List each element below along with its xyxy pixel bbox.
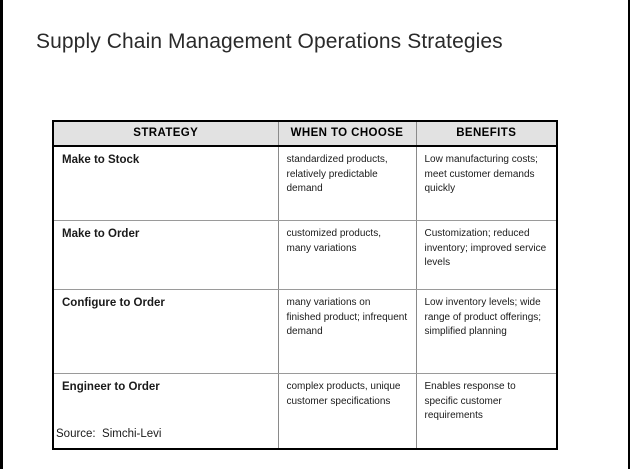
cell-benefits: Customization; reduced inventory; improv… <box>416 221 557 290</box>
cell-when-to-choose: standardized products, relatively predic… <box>278 146 416 221</box>
table-body: Make to Stock standardized products, rel… <box>53 146 557 449</box>
slide-title: Supply Chain Management Operations Strat… <box>36 30 503 54</box>
cell-benefits: Enables response to specific customer re… <box>416 374 557 450</box>
slide-right-edge-bar <box>628 0 630 469</box>
table-row: Make to Order customized products, many … <box>53 221 557 290</box>
cell-strategy: Make to Stock <box>53 146 278 221</box>
cell-strategy: Make to Order <box>53 221 278 290</box>
slide-canvas: Supply Chain Management Operations Strat… <box>0 0 640 469</box>
operations-strategies-table: STRATEGY WHEN TO CHOOSE BENEFITS Make to… <box>52 120 558 450</box>
column-header-benefits: BENEFITS <box>416 121 557 146</box>
cell-when-to-choose: complex products, unique customer specif… <box>278 374 416 450</box>
table-row: Configure to Order many variations on fi… <box>53 290 557 374</box>
column-header-when-to-choose: WHEN TO CHOOSE <box>278 121 416 146</box>
cell-strategy: Configure to Order <box>53 290 278 374</box>
cell-when-to-choose: many variations on finished product; inf… <box>278 290 416 374</box>
slide-left-edge-bar <box>0 0 3 469</box>
source-attribution: Source: Simchi-Levi <box>56 428 161 440</box>
cell-when-to-choose: customized products, many variations <box>278 221 416 290</box>
column-header-strategy: STRATEGY <box>53 121 278 146</box>
cell-benefits: Low manufacturing costs; meet customer d… <box>416 146 557 221</box>
cell-benefits: Low inventory levels; wide range of prod… <box>416 290 557 374</box>
table-header: STRATEGY WHEN TO CHOOSE BENEFITS <box>53 121 557 146</box>
table-header-row: STRATEGY WHEN TO CHOOSE BENEFITS <box>53 121 557 146</box>
table-row: Make to Stock standardized products, rel… <box>53 146 557 221</box>
